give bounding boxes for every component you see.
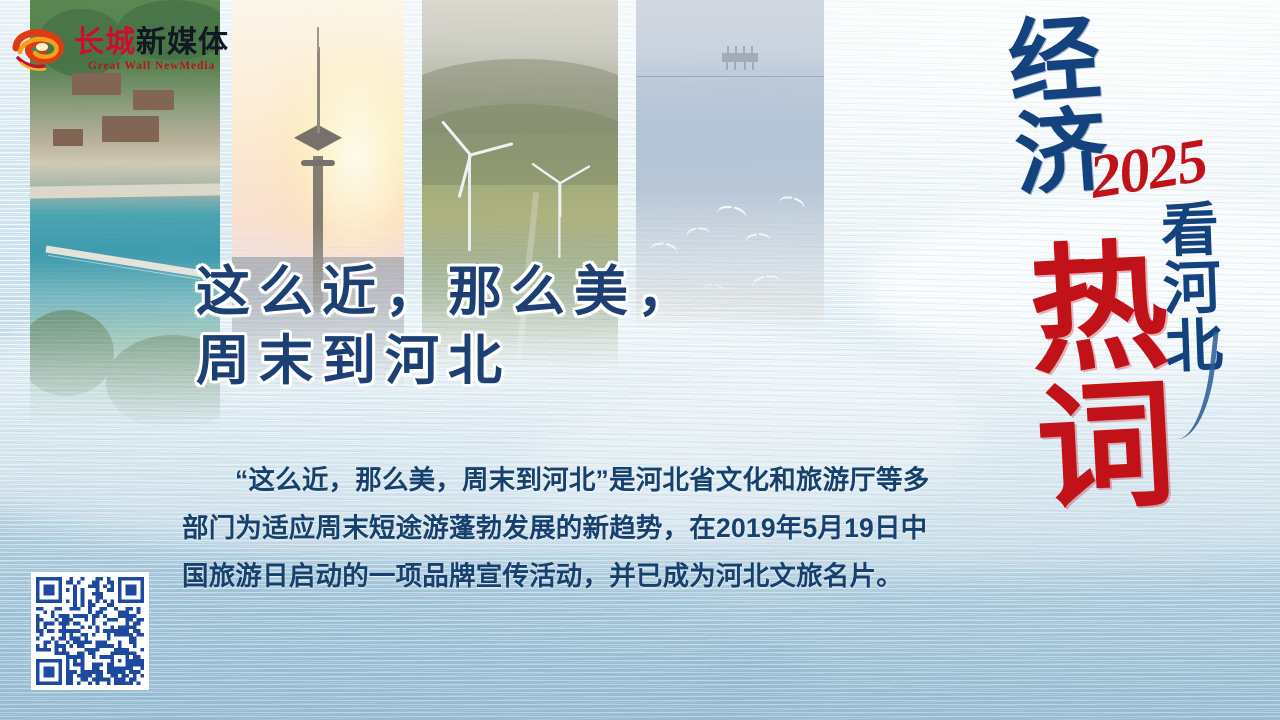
brand-logo[interactable]: 长城新媒体 Great Wall NewMedia [12, 28, 229, 73]
calligraphy-reci: 热词 [947, 233, 1161, 519]
qr-code-image [36, 577, 144, 685]
brand-logo-text: 长城新媒体 Great Wall NewMedia [74, 28, 229, 73]
great-wall-swirl-icon [12, 28, 68, 72]
calligraphy-year: 2025 [1086, 131, 1210, 207]
poster-canvas: 长城新媒体 Great Wall NewMedia 这么近，那么美， 周末到河北… [0, 0, 1280, 720]
brand-name-en: Great Wall NewMedia [74, 61, 229, 73]
calligraphy-jingji: 经济 [946, 9, 1098, 202]
brand-name-cn-black: 新媒体 [136, 26, 229, 59]
description-paragraph: “这么近，那么美，周末到河北”是河北省文化和旅游厅等多部门为适应周末短途游蓬勃发… [182, 456, 952, 601]
brand-name-cn-red: 长城 [74, 26, 136, 59]
calligraphy-block: 经济 2025 看河北 热词 [940, 0, 1280, 660]
page-title: 这么近，那么美， 周末到河北 [196, 258, 700, 396]
qr-code[interactable] [31, 572, 149, 690]
